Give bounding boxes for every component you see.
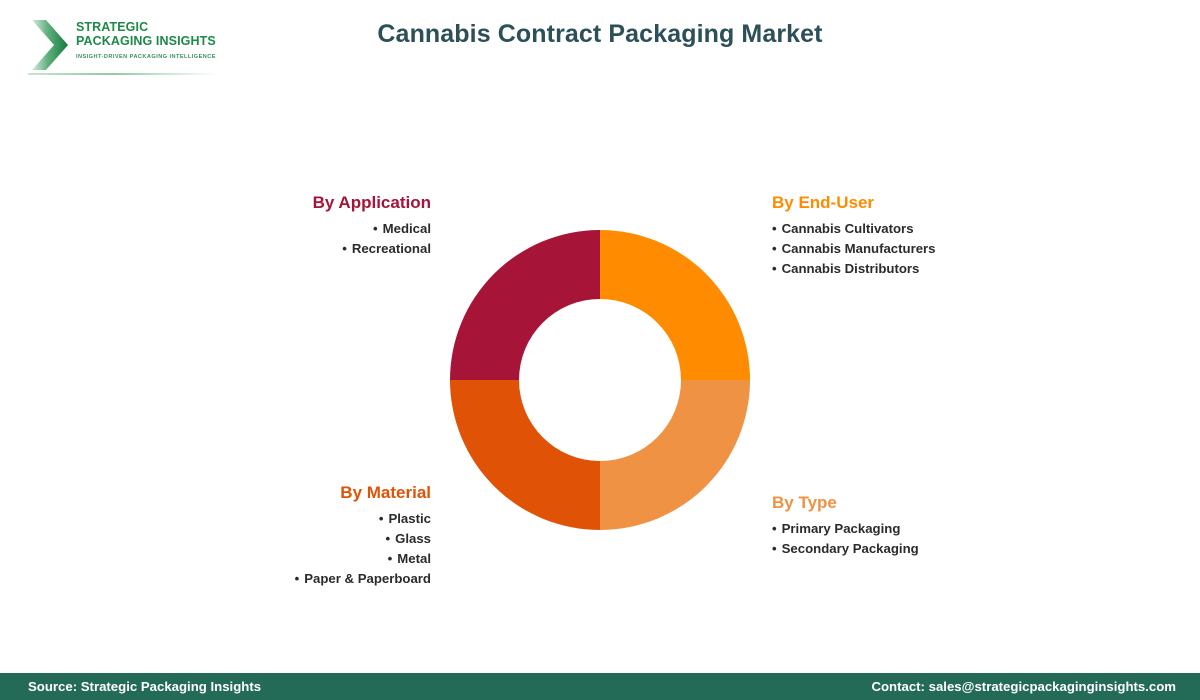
footer-contact-text: Contact: sales@strategicpackaginginsight…: [871, 679, 1176, 694]
page-title: Cannabis Contract Packaging Market: [0, 20, 1200, 49]
segment-heading-type: By Type: [772, 493, 1102, 513]
list-item: Secondary Packaging: [772, 539, 1102, 559]
logo-underline-rule: [28, 73, 216, 75]
segment-block-material: By Material Plastic Glass Metal Paper & …: [150, 483, 431, 589]
list-item: Plastic: [150, 509, 431, 529]
donut-slice-type: [600, 380, 750, 530]
segment-heading-application: By Application: [150, 193, 431, 213]
donut-chart: [450, 230, 750, 530]
list-item: Paper & Paperboard: [150, 569, 431, 589]
list-item: Glass: [150, 529, 431, 549]
list-item: Medical: [150, 219, 431, 239]
segment-heading-end-user: By End-User: [772, 193, 1102, 213]
donut-slice-application: [450, 230, 600, 380]
segment-block-type: By Type Primary Packaging Secondary Pack…: [772, 493, 1102, 559]
list-item: Cannabis Cultivators: [772, 219, 1102, 239]
segment-heading-material: By Material: [150, 483, 431, 503]
list-item: Metal: [150, 549, 431, 569]
segment-list-type: Primary Packaging Secondary Packaging: [772, 519, 1102, 559]
segment-list-end-user: Cannabis Cultivators Cannabis Manufactur…: [772, 219, 1102, 279]
segment-list-material: Plastic Glass Metal Paper & Paperboard: [150, 509, 431, 589]
list-item: Cannabis Distributors: [772, 259, 1102, 279]
logo-tagline: INSIGHT-DRIVEN PACKAGING INTELLIGENCE: [76, 54, 226, 60]
donut-slice-end-user: [600, 230, 750, 380]
footer-source-text: Source: Strategic Packaging Insights: [28, 679, 261, 694]
segment-list-application: Medical Recreational: [150, 219, 431, 259]
list-item: Recreational: [150, 239, 431, 259]
segment-block-application: By Application Medical Recreational: [150, 193, 431, 259]
segment-block-end-user: By End-User Cannabis Cultivators Cannabi…: [772, 193, 1102, 279]
list-item: Primary Packaging: [772, 519, 1102, 539]
list-item: Cannabis Manufacturers: [772, 239, 1102, 259]
donut-slice-material: [450, 380, 600, 530]
